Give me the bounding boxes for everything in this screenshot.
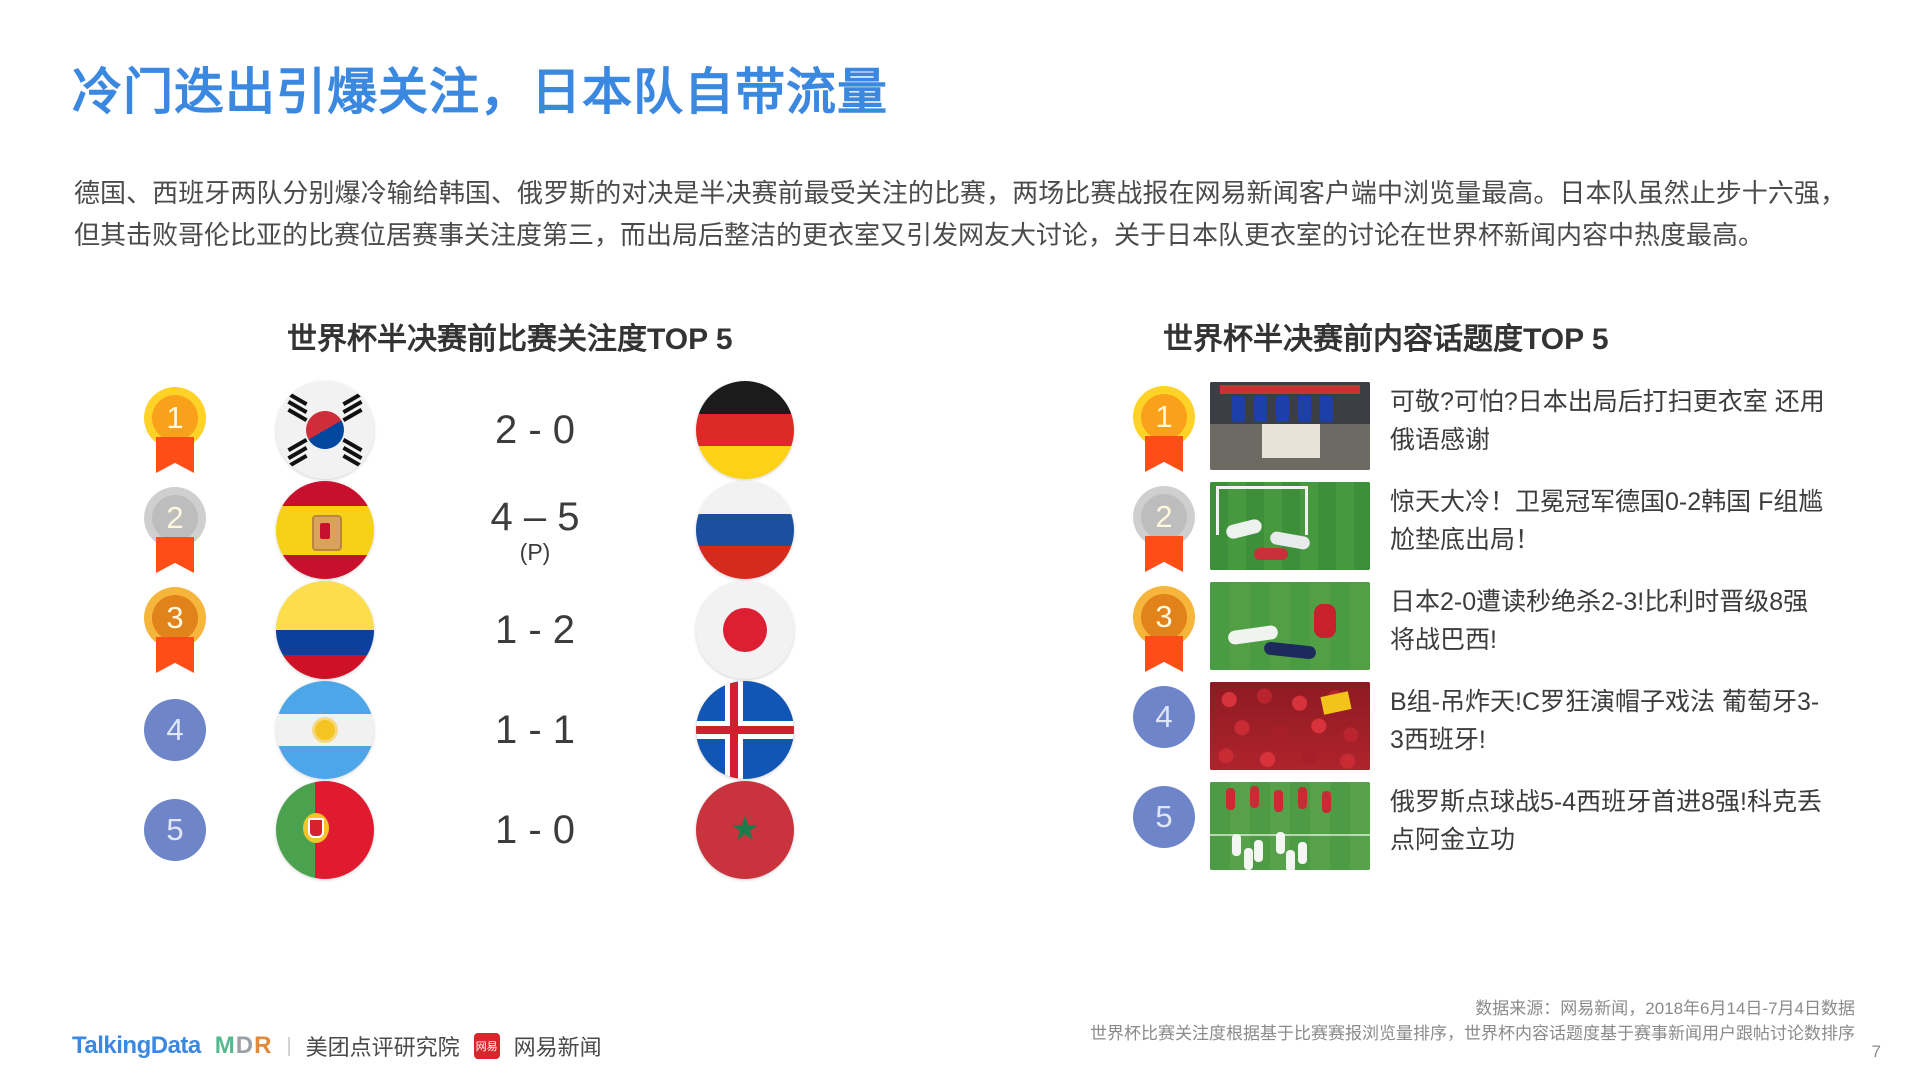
intro-paragraph: 德国、西班牙两队分别爆冷输给韩国、俄罗斯的对决是半决赛前最受关注的比赛，两场比赛… xyxy=(74,172,1846,256)
flag-iceland-icon xyxy=(696,681,794,779)
rank-label: 5 xyxy=(166,812,183,848)
home-flag-cell xyxy=(230,581,420,679)
news-headline: 惊天大冷！卫冕冠军德国0-2韩国 F组尴尬垫底出局！ xyxy=(1390,482,1830,559)
rank-label: 3 xyxy=(166,600,183,636)
rank-label: 2 xyxy=(166,500,183,536)
crowd-photo xyxy=(1210,682,1370,770)
news-ranking-list: 1 可敬?可怕?日本出局后打扫更衣室 还用俄语感谢 2 xyxy=(1118,382,1878,882)
rank-cell: 4 xyxy=(120,699,230,761)
flag-colombia-icon xyxy=(276,581,374,679)
rank-badge-4: 4 xyxy=(1133,686,1195,748)
rank-label: 2 xyxy=(1155,499,1172,535)
talkingdata-logo: TalkingData xyxy=(72,1032,201,1060)
news-headline: 俄罗斯点球战5-4西班牙首进8强!科克丢点阿金立功 xyxy=(1390,782,1830,859)
flag-morocco-icon: ★ xyxy=(696,781,794,879)
rank-badge-4: 4 xyxy=(144,699,206,761)
list-item: 5 俄罗斯点球战5-4西班牙首进8强!科克丢点阿金立功 xyxy=(1118,782,1878,878)
away-flag-cell xyxy=(650,681,840,779)
rank-cell: 1 xyxy=(120,387,230,473)
page-number: 7 xyxy=(1872,1042,1881,1062)
flag-spain-icon xyxy=(276,481,374,579)
mdr-logo: MDR xyxy=(215,1032,273,1060)
mdr-logo-d: D xyxy=(236,1032,254,1059)
home-flag-cell xyxy=(230,481,420,579)
gold-medal-icon: 1 xyxy=(1133,386,1195,472)
rank-badge-5: 5 xyxy=(144,799,206,861)
rank-cell: 2 xyxy=(1118,482,1210,572)
score-text: 1 - 1 xyxy=(495,708,575,752)
flag-japan-icon xyxy=(696,581,794,679)
locker-room-photo xyxy=(1210,382,1370,470)
rank-label: 3 xyxy=(1155,599,1172,635)
table-row: 1 xyxy=(120,380,920,480)
score-text: 1 - 0 xyxy=(495,808,575,852)
silver-medal-icon: 2 xyxy=(144,487,206,573)
match-ranking-list: 1 xyxy=(120,380,920,880)
bronze-medal-icon: 3 xyxy=(144,587,206,673)
source-note-line-1: 数据来源：网易新闻，2018年6月14日-7月4日数据 xyxy=(1475,994,1855,1019)
rank-cell: 3 xyxy=(1118,582,1210,672)
match-score: 4 – 5 (P) xyxy=(420,496,650,564)
table-row: 3 1 - 2 xyxy=(120,580,920,680)
flag-russia-icon xyxy=(696,481,794,579)
score-text: 4 – 5 xyxy=(491,495,580,539)
news-headline: 日本2-0遭读秒绝杀2-3!比利时晋级8强将战巴西! xyxy=(1390,582,1830,659)
list-item: 3 日本2-0遭读秒绝杀2-3!比利时晋级8强将战巴西! xyxy=(1118,582,1878,678)
page-title: 冷门迭出引爆关注，日本队自带流量 xyxy=(72,52,888,124)
rank-cell: 3 xyxy=(120,587,230,673)
match-score: 2 - 0 xyxy=(420,409,650,451)
match-score: 1 - 1 xyxy=(420,709,650,751)
rank-label: 5 xyxy=(1155,799,1172,835)
away-flag-cell xyxy=(650,481,840,579)
players-on-pitch-photo xyxy=(1210,582,1370,670)
score-text: 2 - 0 xyxy=(495,408,575,452)
rank-cell: 1 xyxy=(1118,382,1210,472)
away-flag-cell xyxy=(650,381,840,479)
slide-root: 冷门迭出引爆关注，日本队自带流量 德国、西班牙两队分别爆冷输给韩国、俄罗斯的对决… xyxy=(0,0,1921,1080)
list-item: 1 可敬?可怕?日本出局后打扫更衣室 还用俄语感谢 xyxy=(1118,382,1878,478)
rank-label: 1 xyxy=(1155,399,1172,435)
score-text: 1 - 2 xyxy=(495,608,575,652)
table-row: 2 4 – 5 (P) xyxy=(120,480,920,580)
news-headline: B组-吊炸天!C罗狂演帽子戏法 葡萄牙3-3西班牙! xyxy=(1390,682,1830,759)
match-score: 1 - 2 xyxy=(420,609,650,651)
news-headline: 可敬?可怕?日本出局后打扫更衣室 还用俄语感谢 xyxy=(1390,382,1830,459)
table-row: 5 1 - 0 ★ xyxy=(120,780,920,880)
rank-label: 1 xyxy=(166,400,183,436)
list-item: 4 B组-吊炸天!C罗狂演帽子戏法 葡萄牙3-3西班牙! xyxy=(1118,682,1878,778)
rank-label: 4 xyxy=(166,712,183,748)
rank-label: 4 xyxy=(1155,699,1172,735)
gold-medal-icon: 1 xyxy=(144,387,206,473)
table-row: 4 1 - 1 xyxy=(120,680,920,780)
rank-cell: 4 xyxy=(1118,682,1210,748)
meituan-research-logo: 美团点评研究院 xyxy=(306,1030,460,1062)
right-section-heading: 世界杯半决赛前内容话题度TOP 5 xyxy=(1163,314,1609,358)
home-flag-cell xyxy=(230,681,420,779)
rank-badge-5: 5 xyxy=(1133,786,1195,848)
mdr-logo-r: R xyxy=(254,1032,272,1059)
goal-mouth-photo xyxy=(1210,482,1370,570)
away-flag-cell: ★ xyxy=(650,781,840,879)
score-note: (P) xyxy=(420,540,650,564)
rank-cell: 5 xyxy=(120,799,230,861)
bronze-medal-icon: 3 xyxy=(1133,586,1195,672)
rank-cell: 5 xyxy=(1118,782,1210,848)
source-note-line-2: 世界杯比赛关注度根据基于比赛赛报浏览量排序，世界杯内容话题度基于赛事新闻用户跟帖… xyxy=(1090,1019,1855,1044)
footer-logos: TalkingData MDR | 美团点评研究院 网易 网易新闻 xyxy=(72,1030,602,1062)
mdr-logo-m: M xyxy=(215,1032,236,1059)
away-flag-cell xyxy=(650,581,840,679)
flag-argentina-icon xyxy=(276,681,374,779)
flag-germany-icon xyxy=(696,381,794,479)
left-section-heading: 世界杯半决赛前比赛关注度TOP 5 xyxy=(287,314,733,358)
home-flag-cell xyxy=(230,381,420,479)
netease-badge-icon: 网易 xyxy=(474,1033,500,1059)
logo-separator: | xyxy=(286,1035,291,1058)
celebration-photo xyxy=(1210,782,1370,870)
flag-portugal-icon xyxy=(276,781,374,879)
home-flag-cell xyxy=(230,781,420,879)
flag-south-korea-icon xyxy=(276,381,374,479)
match-score: 1 - 0 xyxy=(420,809,650,851)
rank-cell: 2 xyxy=(120,487,230,573)
list-item: 2 惊天大冷！卫冕冠军德国0-2韩国 F组尴尬垫底出局！ xyxy=(1118,482,1878,578)
netease-news-logo: 网易新闻 xyxy=(514,1030,602,1062)
silver-medal-icon: 2 xyxy=(1133,486,1195,572)
